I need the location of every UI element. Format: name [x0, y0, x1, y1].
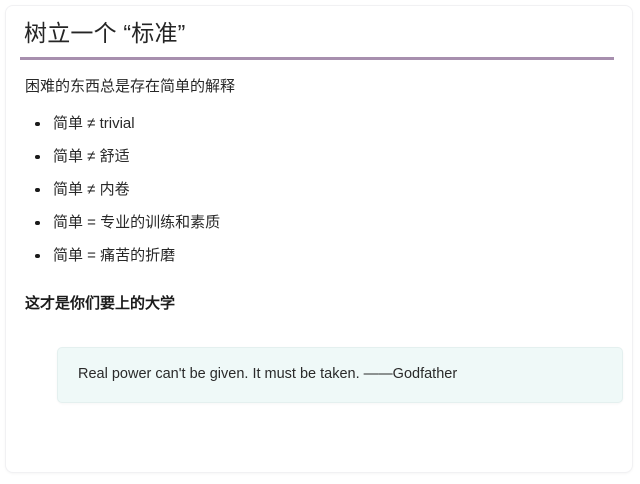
slide-content: 树立一个 “标准” 困难的东西总是存在简单的解释 简单 ≠ trivial 简单… [6, 6, 632, 472]
list-item: 简单 = 专业的训练和素质 [25, 206, 614, 239]
quote-text: Real power can't be given. It must be ta… [78, 365, 602, 385]
page-title: 树立一个 “标准” [24, 20, 614, 48]
list-item: 简单 ≠ 舒适 [25, 140, 614, 173]
list-item-label: 简单 ≠ 舒适 [53, 148, 130, 165]
list-item: 简单 ≠ trivial [25, 107, 614, 140]
quote-callout: Real power can't be given. It must be ta… [57, 347, 623, 404]
list-item: 简单 ≠ 内卷 [25, 173, 614, 206]
lead-paragraph: 困难的东西总是存在简单的解释 [25, 76, 614, 97]
list-item-label: 简单 ≠ 内卷 [53, 181, 130, 198]
list-item-label: 简单 = 专业的训练和素质 [53, 214, 220, 231]
emphasis-text: 这才是你们要上的大学 [25, 293, 614, 314]
list-item: 简单 = 痛苦的折磨 [25, 239, 614, 272]
slide-card: 树立一个 “标准” 困难的东西总是存在简单的解释 简单 ≠ trivial 简单… [6, 6, 632, 472]
list-item-label: 简单 ≠ trivial [53, 115, 135, 132]
bullet-list: 简单 ≠ trivial 简单 ≠ 舒适 简单 ≠ 内卷 简单 = 专业的训练和… [25, 107, 614, 272]
list-item-label: 简单 = 痛苦的折磨 [53, 247, 175, 264]
slide-body: 困难的东西总是存在简单的解释 简单 ≠ trivial 简单 ≠ 舒适 简单 ≠… [20, 60, 614, 404]
slide-header: 树立一个 “标准” [20, 20, 614, 60]
